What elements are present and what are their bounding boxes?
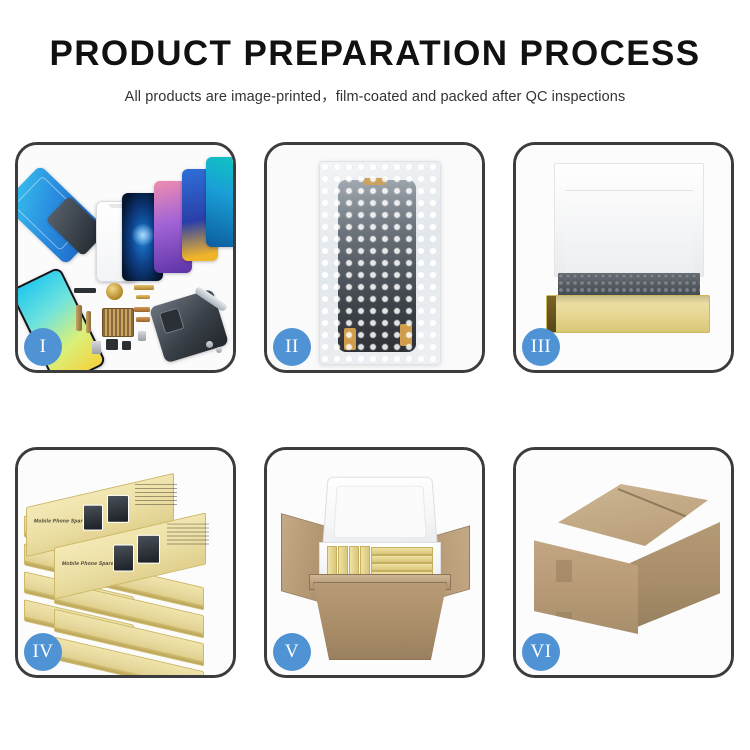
box-side-shadow — [547, 296, 556, 332]
carton-tape-patch — [556, 612, 572, 634]
box-inner-shadow — [556, 296, 709, 304]
box-window-screen — [113, 545, 134, 572]
speaker-part — [74, 288, 96, 293]
yellow-box — [371, 563, 433, 571]
camera-module-part — [92, 341, 101, 354]
step-panel-5: V — [264, 447, 485, 678]
header: PRODUCT PREPARATION PROCESS All products… — [0, 34, 750, 106]
flex-cable-part — [76, 305, 82, 331]
flex-connector-part — [136, 295, 150, 299]
carton-seam — [618, 488, 708, 526]
carton-top-face — [558, 484, 708, 546]
page-subtitle: All products are image-printed，film-coat… — [0, 85, 750, 106]
step-badge-3: III — [522, 328, 560, 366]
flex-connector-part — [134, 285, 154, 290]
sim-tray-part — [138, 331, 146, 341]
step-panel-6: VI — [513, 447, 734, 678]
antenna-flex-part — [136, 317, 150, 322]
page-title: PRODUCT PREPARATION PROCESS — [0, 34, 750, 74]
antenna-flex-part — [134, 307, 150, 312]
vibration-motor-part — [106, 283, 123, 300]
logic-board-chip — [102, 308, 134, 337]
step-panel-3: III — [513, 142, 734, 373]
bubble-wrap-package — [319, 161, 441, 365]
carton-front-face — [534, 530, 638, 634]
foam-lid-inner — [565, 190, 693, 276]
box-window-screen — [83, 505, 103, 531]
bubble-texture-overlay — [320, 162, 440, 364]
screw-part — [216, 347, 222, 353]
screw-part — [206, 341, 213, 348]
step-badge-1: I — [24, 328, 62, 366]
small-component-part — [106, 339, 118, 350]
white-foam-lid — [554, 163, 704, 277]
yellow-inner-box — [546, 295, 710, 333]
box-window-screen — [137, 535, 160, 564]
small-component-part — [122, 341, 131, 350]
box-spec-lines — [167, 524, 209, 546]
flex-cable-part — [86, 311, 91, 333]
teal-gradient-phone — [206, 157, 233, 247]
yellow-box — [371, 555, 433, 563]
carton-body — [313, 582, 447, 660]
step-badge-4: IV — [24, 633, 62, 671]
foam-lid-inner — [333, 486, 426, 538]
box-spec-lines — [135, 484, 177, 506]
box-window-screen — [107, 495, 129, 523]
yellow-box — [371, 547, 433, 555]
step-panel-1: I — [15, 142, 236, 373]
sealed-carton — [534, 484, 720, 640]
step-panel-2: II — [264, 142, 485, 373]
step-badge-5: V — [273, 633, 311, 671]
product-preparation-infographic: PRODUCT PREPARATION PROCESS All products… — [0, 0, 750, 750]
process-steps-grid: I II — [15, 142, 735, 678]
step-badge-6: VI — [522, 633, 560, 671]
step-badge-2: II — [273, 328, 311, 366]
step-panel-4: Mobile Phone Spare Parts Mobile Phone Sp… — [15, 447, 236, 678]
foam-lid-open — [322, 477, 438, 549]
carton-tape-patch — [556, 560, 572, 582]
